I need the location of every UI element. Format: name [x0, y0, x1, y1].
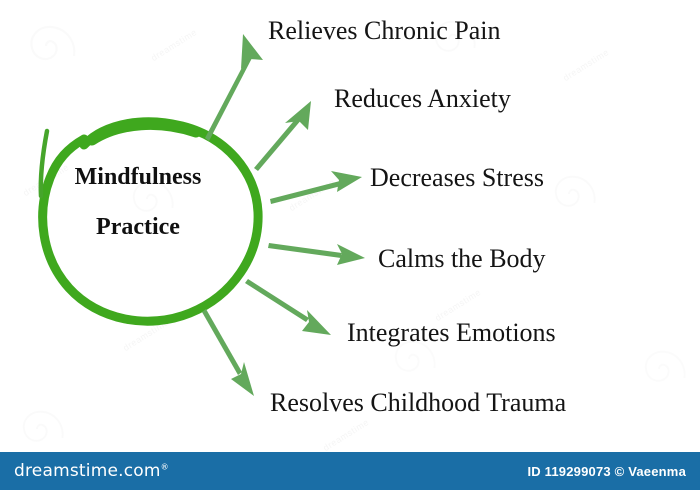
center-circle-ring [41, 122, 258, 321]
dreamstime-logo-text: dreamstime.com [14, 461, 161, 481]
arrow-to-calms-the-body [268, 243, 365, 265]
benefit-label-reduces-anxiety: Reduces Anxiety [334, 86, 511, 112]
benefit-label-resolves-childhood-trauma: Resolves Childhood Trauma [270, 390, 566, 416]
registered-mark-icon: ® [161, 462, 169, 471]
arrow-to-relieves-chronic-pain [205, 34, 263, 141]
footer-bar: dreamstime.com® ID 119299073 © Vaeenma [0, 452, 700, 490]
arrow-to-integrates-emotions [245, 279, 331, 335]
benefit-label-decreases-stress: Decreases Stress [370, 165, 544, 191]
dreamstime-logo: dreamstime.com® [14, 461, 169, 481]
benefit-label-calms-the-body: Calms the Body [378, 246, 546, 272]
arrow-to-decreases-stress [270, 171, 362, 204]
diagram-vector-art [0, 0, 700, 452]
benefit-label-integrates-emotions: Integrates Emotions [347, 320, 556, 346]
image-credit: ID 119299073 © Vaeenma [527, 464, 686, 479]
arrow-to-reduces-anxiety [254, 101, 311, 171]
diagram-canvas: dreamstime dreamstime dreamstime dreamst… [0, 0, 700, 490]
benefit-label-relieves-chronic-pain: Relieves Chronic Pain [268, 18, 501, 44]
arrow-to-resolves-childhood-trauma [202, 309, 254, 396]
